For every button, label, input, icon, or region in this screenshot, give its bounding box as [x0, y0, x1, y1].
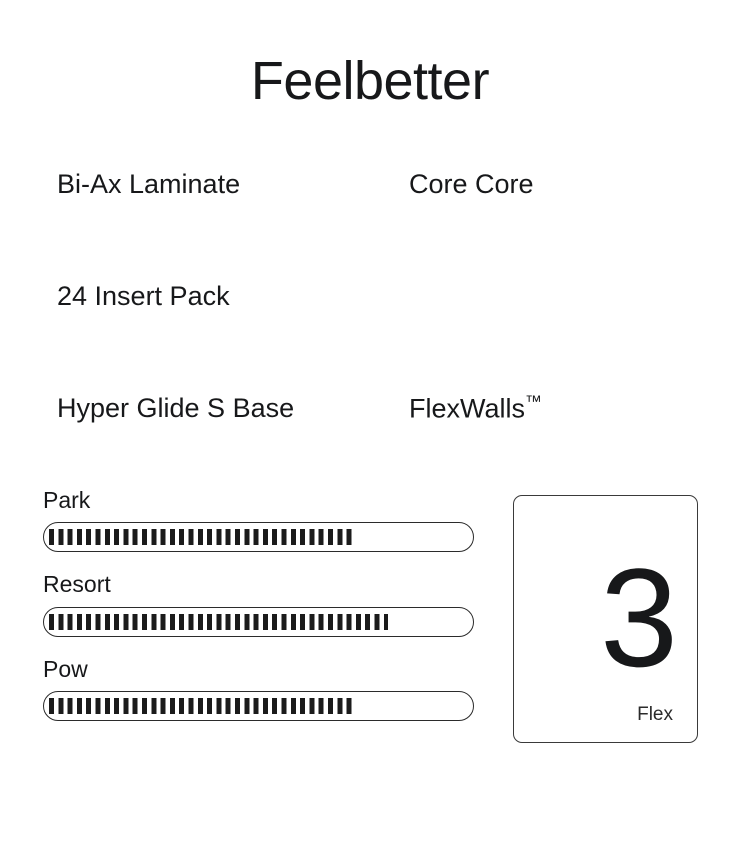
feature-item: FlexWalls™ — [409, 392, 657, 425]
feature-item-label: FlexWalls — [409, 393, 525, 423]
flex-rating-value: 3 — [600, 548, 675, 688]
rating-fill — [49, 529, 355, 545]
product-spec-sheet: Feelbetter Bi-Ax Laminate Core Core 24 I… — [0, 0, 740, 850]
feature-list: Bi-Ax Laminate Core Core 24 Insert Pack … — [57, 168, 657, 504]
feature-row: Bi-Ax Laminate Core Core — [57, 168, 657, 280]
ratings-and-flex: Park Resort Pow 3 Flex — [0, 488, 740, 758]
feature-item: Core Core — [409, 168, 657, 200]
feature-item: Bi-Ax Laminate — [57, 168, 409, 200]
rating-track — [43, 607, 474, 637]
feature-item: 24 Insert Pack — [57, 280, 409, 312]
rating-label: Resort — [43, 572, 474, 597]
trademark-symbol: ™ — [525, 392, 542, 411]
rating-list: Park Resort Pow — [43, 488, 474, 721]
rating-label: Pow — [43, 657, 474, 682]
rating-track — [43, 691, 474, 721]
page-title: Feelbetter — [0, 52, 740, 111]
rating-track — [43, 522, 474, 552]
rating-park: Park — [43, 488, 474, 552]
rating-fill — [49, 698, 355, 714]
flex-rating-caption: Flex — [637, 705, 673, 724]
rating-fill — [49, 614, 388, 630]
flex-rating-card: 3 Flex — [513, 495, 698, 743]
rating-label: Park — [43, 488, 474, 513]
rating-resort: Resort — [43, 572, 474, 636]
rating-pow: Pow — [43, 657, 474, 721]
feature-item: Hyper Glide S Base — [57, 392, 409, 424]
feature-row: 24 Insert Pack — [57, 280, 657, 392]
